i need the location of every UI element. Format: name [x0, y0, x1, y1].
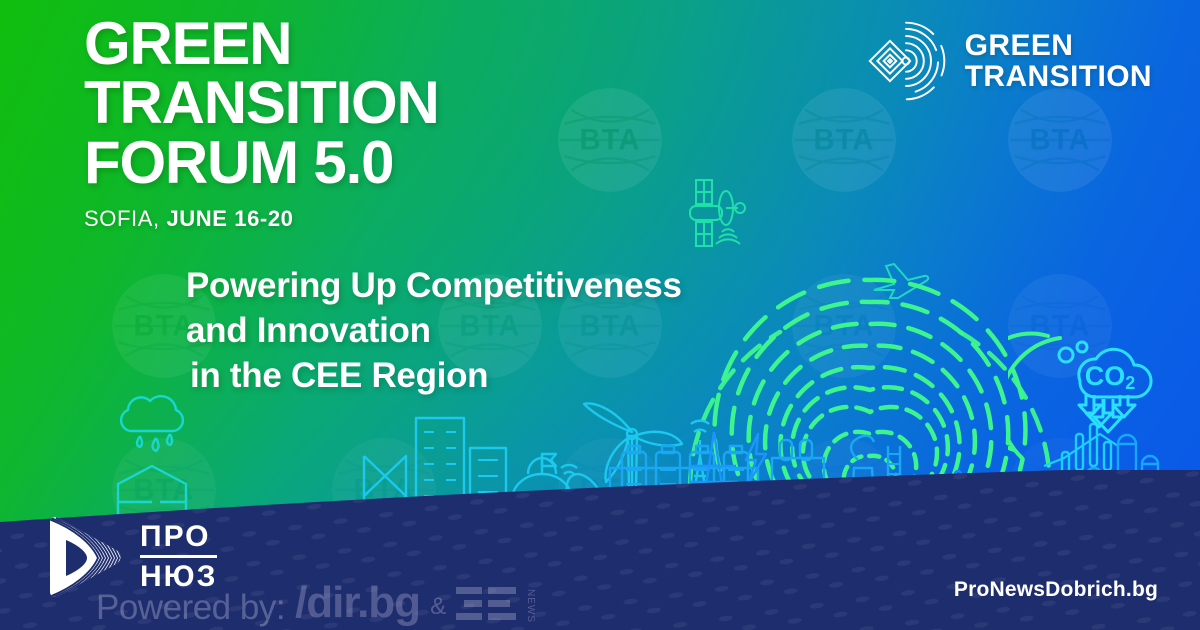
logo-line-2: TRANSITION	[965, 61, 1152, 92]
pro-nuze-mark	[40, 516, 126, 598]
green-transition-wordmark: GREEN TRANSITION	[965, 30, 1152, 92]
promo-banner: BTA BTA BTA	[0, 0, 1200, 630]
pro-nuze-line-1: ПРО	[140, 522, 217, 552]
event-city: SOFIA,	[84, 206, 160, 231]
partner-3e-news: NEWS	[456, 585, 535, 625]
title-line-3: FORUM 5.0	[84, 133, 644, 192]
title-line-1: GREEN	[84, 14, 644, 73]
partner-dir-bg: /dir.bg	[295, 581, 420, 625]
green-transition-logo[interactable]: GREEN TRANSITION	[861, 20, 1152, 102]
page-title: GREEN TRANSITION FORUM 5.0	[84, 14, 644, 192]
pro-nuze-logo[interactable]: ПРО НЮЗ	[40, 516, 217, 598]
partner-3e-news-sub: NEWS	[525, 589, 535, 625]
event-dates: JUNE 16-20	[166, 206, 293, 231]
pro-nuze-line-2: НЮЗ	[140, 562, 217, 592]
site-url[interactable]: ProNewsDobrich.bg	[954, 578, 1158, 602]
co2-reduction-icon: CO2	[1046, 333, 1176, 448]
three-e-glyph	[456, 585, 522, 625]
pro-nuze-wordmark: ПРО НЮЗ	[140, 522, 217, 592]
subtitle-line-1: Powering Up Competitiveness	[186, 264, 846, 309]
partner-separator: &	[430, 595, 446, 625]
subtitle-line-3: in the CEE Region	[186, 354, 846, 399]
headline-block: GREEN TRANSITION FORUM 5.0 SOFIA, JUNE 1…	[84, 14, 644, 232]
green-transition-mark	[861, 20, 951, 102]
logo-line-1: GREEN	[965, 30, 1152, 61]
title-line-2: TRANSITION	[84, 73, 644, 132]
co2-label: CO2	[1085, 361, 1136, 393]
subtitle-line-2: and Innovation	[186, 309, 846, 354]
pro-nuze-divider	[140, 555, 217, 558]
event-dateline: SOFIA, JUNE 16-20	[84, 206, 644, 232]
event-subtitle: Powering Up Competitiveness and Innovati…	[186, 264, 846, 398]
